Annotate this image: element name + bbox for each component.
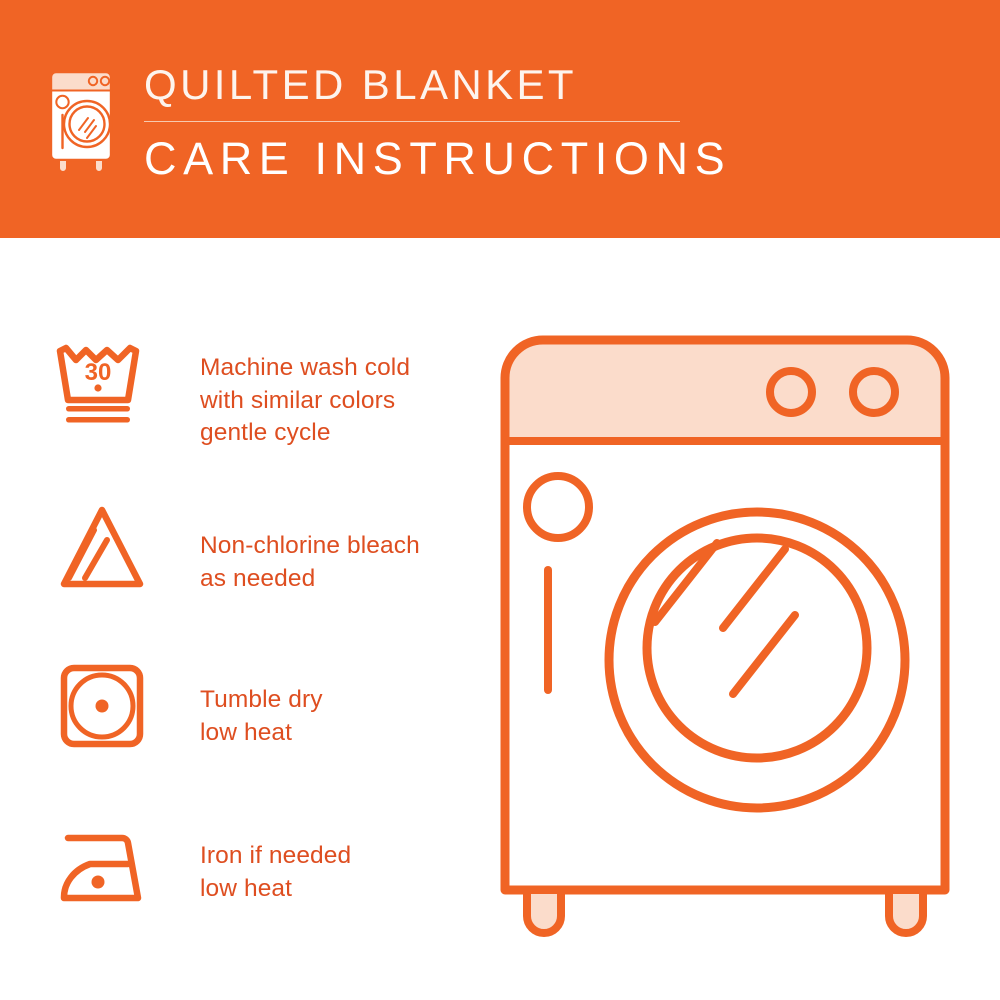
page-subtitle: CARE INSTRUCTIONS: [144, 136, 731, 181]
wash-temperature-label: 30: [85, 359, 112, 386]
header-content: QUILTED BLANKET CARE INSTRUCTIONS: [46, 62, 731, 181]
care-instruction-list: 30 Machine wash cold with similar colors…: [52, 338, 482, 970]
care-text-line: Machine wash cold: [200, 352, 410, 385]
header-title-group: QUILTED BLANKET CARE INSTRUCTIONS: [144, 62, 731, 181]
care-row-bleach: Non-chlorine bleach as needed: [52, 496, 482, 654]
care-row-iron: Iron if needed low heat: [52, 812, 482, 970]
care-text-machine-wash: Machine wash cold with similar colors ge…: [172, 338, 410, 450]
care-text-bleach: Non-chlorine bleach as needed: [172, 496, 420, 595]
washing-machine-icon: [46, 62, 120, 174]
title-divider: [144, 121, 680, 122]
care-text-line: Iron if needed: [200, 840, 351, 873]
care-text-line: with similar colors: [200, 385, 410, 418]
care-row-tumble-dry: Tumble dry low heat: [52, 654, 482, 812]
iron-icon: [52, 812, 172, 918]
wash-tub-icon: 30: [52, 338, 172, 430]
header-banner: QUILTED BLANKET CARE INSTRUCTIONS: [0, 0, 1000, 238]
care-text-tumble-dry: Tumble dry low heat: [172, 654, 323, 749]
leg-right: [889, 890, 923, 933]
control-panel: [505, 340, 945, 441]
page-title: QUILTED BLANKET: [144, 64, 577, 108]
care-row-machine-wash: 30 Machine wash cold with similar colors…: [52, 338, 482, 496]
care-text-line: Tumble dry: [200, 684, 323, 717]
care-text-line: low heat: [200, 873, 351, 906]
washing-machine-illustration: [495, 330, 955, 940]
bleach-triangle-icon: [52, 496, 172, 594]
care-text-line: gentle cycle: [200, 417, 410, 450]
care-text-iron: Iron if needed low heat: [172, 812, 351, 905]
tumble-dry-icon: [52, 654, 172, 752]
care-text-line: as needed: [200, 563, 420, 596]
leg-left: [527, 890, 561, 933]
care-text-line: low heat: [200, 717, 323, 750]
care-text-line: Non-chlorine bleach: [200, 530, 420, 563]
